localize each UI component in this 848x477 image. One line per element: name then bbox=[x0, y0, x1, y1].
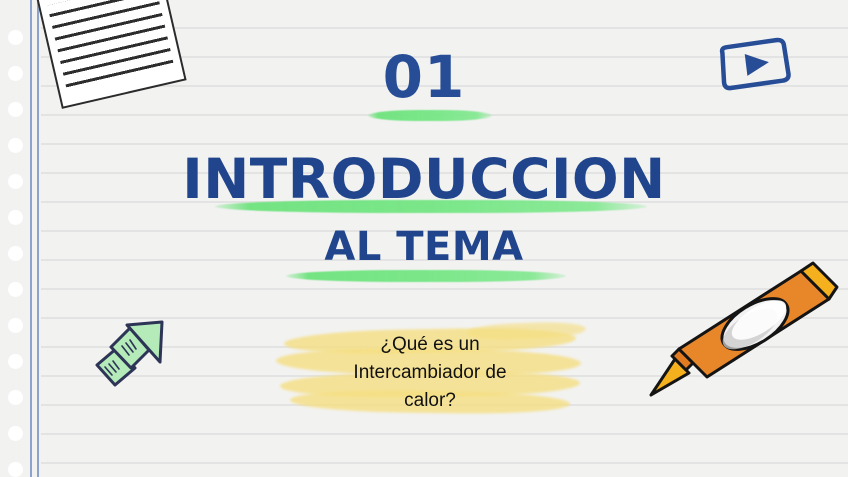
binder-hole bbox=[8, 138, 23, 153]
binder-hole bbox=[8, 282, 23, 297]
slide-title: INTRODUCCION bbox=[182, 152, 665, 207]
question-highlight-block: ¿Qué es un Intercambiador de calor? bbox=[276, 327, 584, 413]
video-play-svg bbox=[715, 36, 792, 92]
binder-hole bbox=[8, 354, 23, 369]
binder-hole bbox=[8, 390, 23, 405]
video-play-icon bbox=[715, 36, 792, 92]
slide-subtitle: AL TEMA bbox=[324, 227, 523, 267]
orange-crayon-icon bbox=[645, 258, 847, 402]
slide-title-container: INTRODUCCION bbox=[0, 152, 848, 207]
highlight-underline-subtitle bbox=[286, 270, 566, 282]
slide-canvas: 01 INTRODUCCION AL TEMA ¿Qué es un Inter… bbox=[0, 0, 848, 477]
binder-hole bbox=[8, 30, 23, 45]
money-bills-icon bbox=[94, 318, 168, 390]
binder-hole bbox=[8, 210, 23, 225]
binder-hole bbox=[8, 462, 23, 477]
highlight-underline-title bbox=[215, 200, 647, 213]
binder-hole bbox=[8, 426, 23, 441]
money-bills-svg bbox=[94, 318, 168, 390]
binder-hole bbox=[8, 318, 23, 333]
section-number: 01 bbox=[383, 48, 466, 106]
orange-crayon-svg bbox=[645, 258, 847, 402]
highlight-underline-number bbox=[368, 110, 492, 121]
question-text: ¿Qué es un Intercambiador de calor? bbox=[276, 331, 584, 415]
